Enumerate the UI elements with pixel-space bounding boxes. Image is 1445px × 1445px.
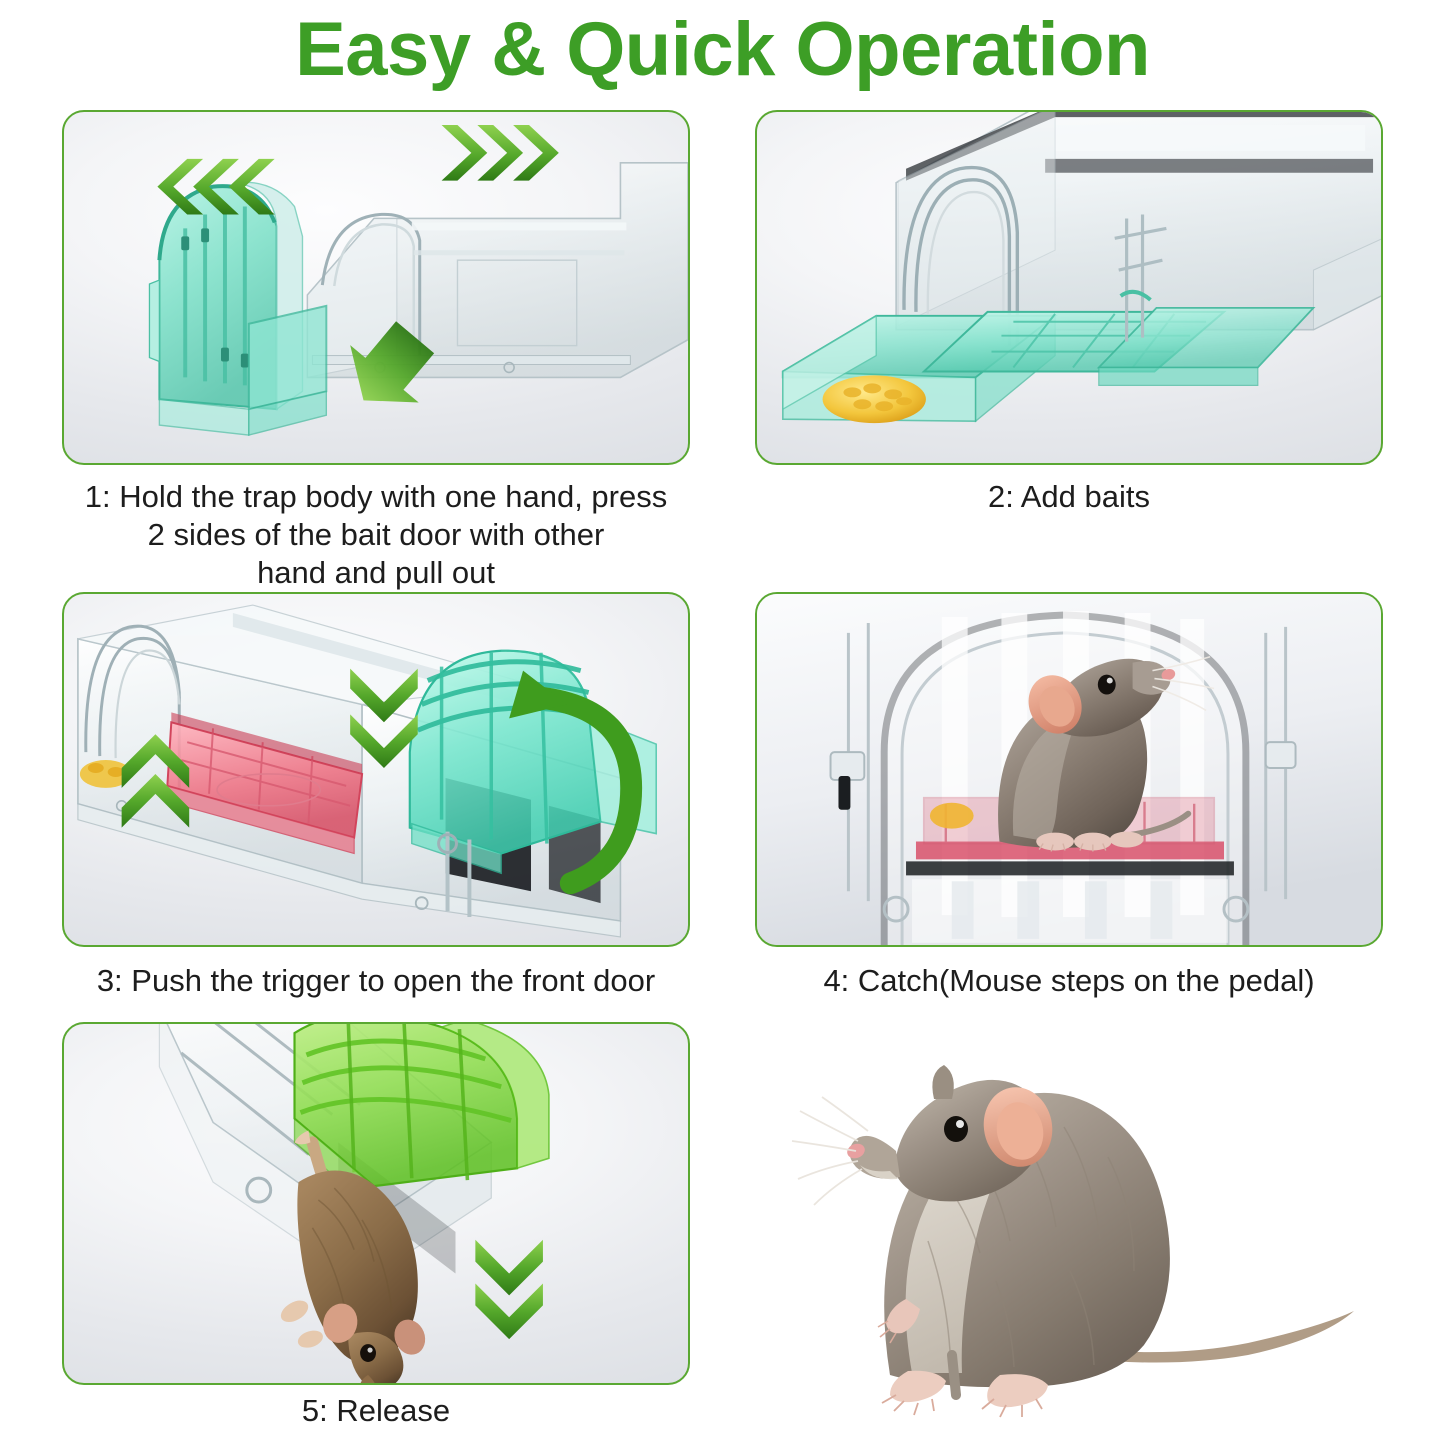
step-5-illustration — [64, 1024, 688, 1383]
step-1-illustration — [64, 112, 688, 463]
step-4-illustration — [757, 594, 1381, 945]
step-panel-1 — [62, 110, 690, 465]
step-3-caption: 3: Push the trigger to open the front do… — [42, 962, 710, 1000]
step-panel-4 — [755, 592, 1383, 947]
step-panel-2 — [755, 110, 1383, 465]
trap-tube — [896, 112, 1381, 330]
bait-icon — [823, 375, 926, 423]
step-panel-5 — [62, 1022, 690, 1385]
hero-rat-photo — [770, 1055, 1390, 1420]
double-chevron-down-icon — [475, 1240, 543, 1339]
step-3-illustration — [64, 594, 688, 945]
bait-door-mint — [149, 182, 326, 435]
step-1-caption: 1: Hold the trap body with one hand, pre… — [42, 478, 710, 592]
step-5-caption: 5: Release — [62, 1392, 690, 1430]
step-4-caption: 4: Catch(Mouse steps on the pedal) — [745, 962, 1393, 1000]
hero-rat-illustration — [770, 1055, 1390, 1420]
page-title: Easy & Quick Operation — [0, 6, 1445, 94]
step-panel-3 — [62, 592, 690, 947]
step-2-caption: 2: Add baits — [755, 478, 1383, 516]
triple-chevron-right-icon — [442, 125, 559, 181]
step-2-illustration — [757, 112, 1381, 463]
trap-body-transparent — [307, 163, 688, 378]
infographic-page: Easy & Quick Operation — [0, 0, 1445, 1445]
